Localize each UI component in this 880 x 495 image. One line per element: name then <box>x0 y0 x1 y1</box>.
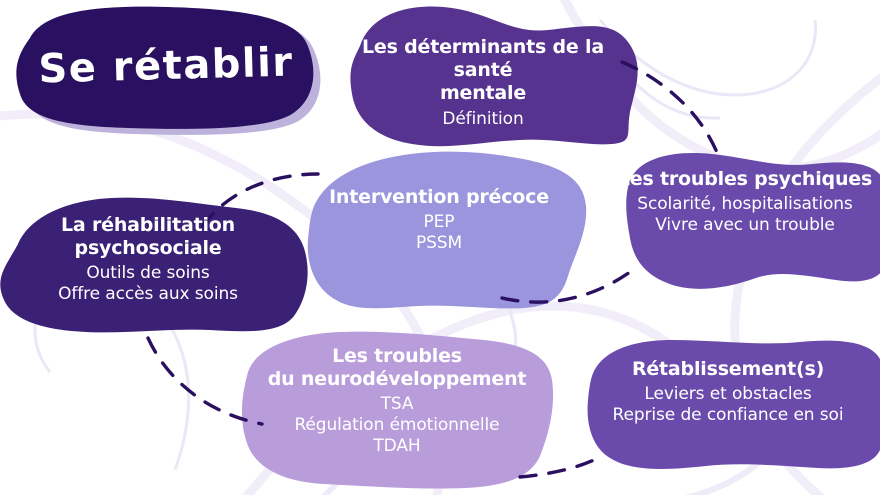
node-intervention-sub1: PEP <box>320 212 558 233</box>
node-neurodeveloppement-text: Les troubles du neurodéveloppement TSA R… <box>252 345 542 457</box>
connector-determinants-to-psychiques <box>622 62 718 155</box>
node-neuro-title-line1: Les troubles <box>252 345 542 368</box>
node-rehabilitation-title-line1: La réhabilitation <box>14 214 282 237</box>
node-determinants-title-line2: mentale <box>352 82 614 105</box>
node-psychiques-text: Les troubles psychiques Scolarité, hospi… <box>614 168 876 236</box>
title-badge-group: Se rétablir <box>16 10 316 128</box>
node-neuro-sub3: TDAH <box>252 436 542 457</box>
connector-intervention-to-psychiques <box>502 272 630 302</box>
node-retablissement-title: Rétablissement(s) <box>588 358 868 381</box>
node-retablissement-sub1: Leviers et obstacles <box>588 384 868 405</box>
page-title: Se rétablir <box>14 6 317 126</box>
node-determinants-text: Les déterminants de la santé mentale Déf… <box>352 36 614 129</box>
node-psychiques-sub1: Scolarité, hospitalisations <box>614 194 876 215</box>
node-neuro-sub1: TSA <box>252 394 542 415</box>
infographic-canvas: Se rétablir Les déterminants de la santé… <box>0 0 880 495</box>
node-rehabilitation-sub1: Outils de soins <box>14 263 282 284</box>
connector-rehabilitation-to-neuro <box>148 338 262 424</box>
node-determinants-title-line1: Les déterminants de la santé <box>352 36 614 82</box>
node-psychiques-sub2: Vivre avec un trouble <box>614 215 876 236</box>
node-rehabilitation-title-line2: psychosociale <box>14 237 282 260</box>
node-retablissement-text: Rétablissement(s) Leviers et obstacles R… <box>588 358 868 426</box>
node-rehabilitation-sub2: Offre accès aux soins <box>14 284 282 305</box>
node-neuro-title-line2: du neurodéveloppement <box>252 368 542 391</box>
node-intervention-title: Intervention précoce <box>320 186 558 209</box>
node-rehabilitation-text: La réhabilitation psychosociale Outils d… <box>14 214 282 305</box>
connector-neuro-to-retablissement <box>520 458 598 477</box>
node-determinants-sub1: Définition <box>352 109 614 130</box>
node-psychiques-title: Les troubles psychiques <box>614 168 876 191</box>
node-neuro-sub2: Régulation émotionnelle <box>252 415 542 436</box>
node-intervention-sub2: PSSM <box>320 233 558 254</box>
node-retablissement-sub2: Reprise de confiance en soi <box>588 405 868 426</box>
node-intervention-text: Intervention précoce PEP PSSM <box>320 186 558 254</box>
